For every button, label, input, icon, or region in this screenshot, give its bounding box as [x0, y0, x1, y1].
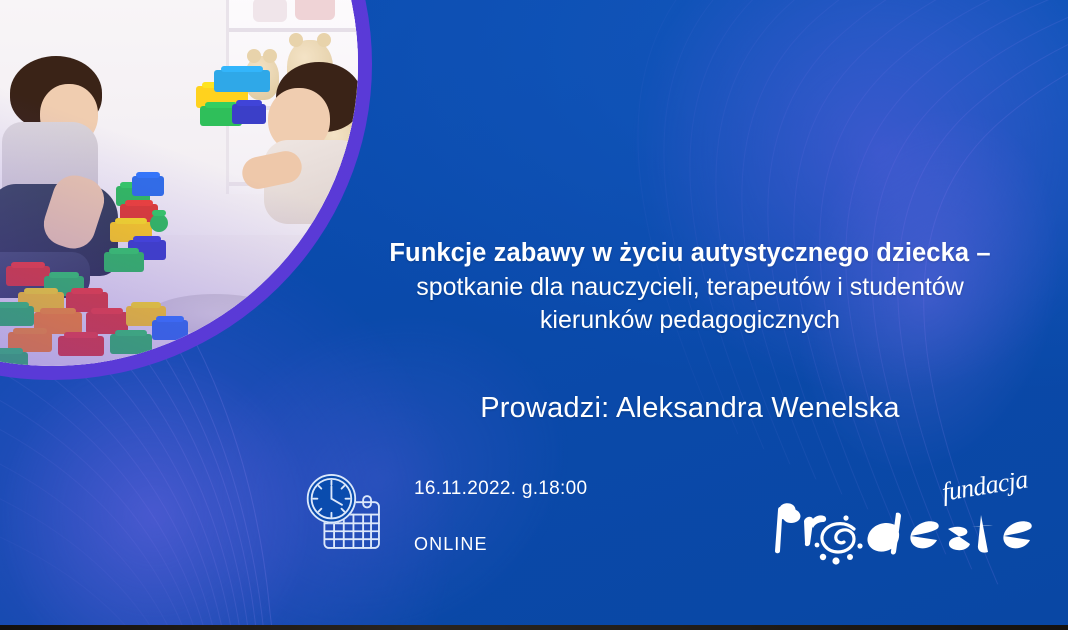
- event-meta-text: 16.11.2022. g.18:00 ONLINE: [414, 466, 587, 555]
- spiral-eye-o-icon: [822, 524, 854, 552]
- svg-text:fundacja: fundacja: [940, 473, 1030, 507]
- event-meta: 16.11.2022. g.18:00 ONLINE: [298, 466, 587, 556]
- logo-tagline: fundacja: [940, 473, 1030, 507]
- event-date: 16.11.2022. g.18:00: [414, 478, 587, 500]
- toy-brick: [150, 214, 168, 232]
- title-line-1: Funkcje zabawy w życiu autystycznego dzi…: [320, 238, 1060, 269]
- toy-brick: [104, 252, 144, 272]
- logo-artwork: fundacja: [768, 473, 1058, 578]
- toy-brick: [132, 176, 164, 196]
- toy-brick: [58, 336, 104, 356]
- calendar-clock-icon: [298, 466, 386, 556]
- event-poster: Funkcje zabawy w życiu autystycznego dzi…: [0, 0, 1068, 630]
- toy-brick: [110, 334, 152, 354]
- toy-brick: [214, 70, 270, 92]
- playroom-scene: [0, 0, 358, 366]
- prodeste-logo[interactable]: fundacja: [768, 473, 1058, 578]
- photo-image: [0, 0, 358, 366]
- toy-brick: [0, 306, 34, 326]
- logo-wordmark-deste: [867, 513, 1031, 555]
- event-mode: ONLINE: [414, 534, 587, 555]
- toy-brick: [0, 352, 28, 366]
- toy-brick: [232, 104, 266, 124]
- page-title: Funkcje zabawy w życiu autystycznego dzi…: [320, 238, 1060, 335]
- hero-photo: [0, 0, 372, 380]
- toy-brick: [152, 320, 188, 340]
- presenter-line: Prowadzi: Aleksandra Wenelska: [320, 392, 1060, 425]
- title-line-2: spotkanie dla nauczycieli, terapeutów i …: [320, 272, 1060, 302]
- photo-clip: [0, 0, 372, 380]
- title-line-3: kierunków pedagogicznych: [320, 305, 1060, 335]
- bottom-strip: [0, 625, 1068, 630]
